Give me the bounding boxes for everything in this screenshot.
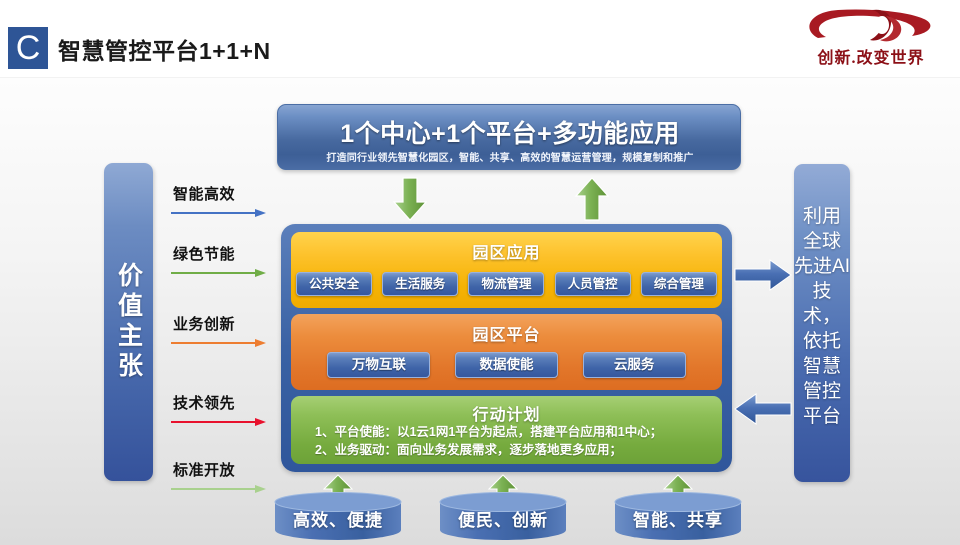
value-point-business-innovation: 业务创新 xyxy=(171,313,277,355)
layer-park-platform: 园区平台 万物互联 数据使能 云服务 xyxy=(291,314,722,390)
layer-title: 园区平台 xyxy=(291,321,722,345)
chip-cloud-service[interactable]: 云服务 xyxy=(583,352,686,378)
action-plan-line: 1、平台使能：以1云1网1平台为起点，搭建平台应用和1中心； xyxy=(315,423,715,441)
value-point-label: 绿色节能 xyxy=(173,243,235,264)
value-point-label: 业务创新 xyxy=(173,313,235,334)
chip-data-enablement[interactable]: 数据使能 xyxy=(455,352,558,378)
outcome-label: 智能、共享 xyxy=(613,506,743,531)
value-point-label: 智能高效 xyxy=(173,183,235,204)
arrow-down-to-application xyxy=(392,176,428,222)
arrow-up-from-application xyxy=(574,176,610,222)
application-chip-list: 公共安全 生活服务 物流管理 人员管控 综合管理 xyxy=(291,272,722,296)
value-point-open-standard: 标准开放 xyxy=(171,459,277,501)
arrow-right-icon xyxy=(171,208,267,218)
action-plan-lines: 1、平台使能：以1云1网1平台为起点，搭建平台应用和1中心； 2、业务驱动：面向… xyxy=(315,423,715,459)
arrow-left-from-ai-panel xyxy=(734,392,792,426)
chip-logistics-management[interactable]: 物流管理 xyxy=(468,272,544,296)
layer-park-application: 园区应用 公共安全 生活服务 物流管理 人员管控 综合管理 xyxy=(291,232,722,308)
chip-integrated-management[interactable]: 综合管理 xyxy=(641,272,717,296)
slide-root: C 智慧管控平台1+1+N 创新.改变世界 1个中心+1个平台+多功能应用 打造… xyxy=(0,0,960,545)
value-point-green-energy: 绿色节能 xyxy=(171,243,277,285)
chip-iot-connectivity[interactable]: 万物互联 xyxy=(327,352,430,378)
value-point-label: 技术领先 xyxy=(173,392,235,413)
outcome-cylinder-convenient-innovative: 便民、创新 xyxy=(438,492,568,540)
outcome-label: 高效、便捷 xyxy=(273,506,403,531)
value-proposition-bar: 价值主张 xyxy=(104,163,153,481)
page-header: C 智慧管控平台1+1+N 创新.改变世界 xyxy=(0,0,960,78)
arrow-right-to-ai-panel xyxy=(734,258,792,292)
value-point-tech-leading: 技术领先 xyxy=(171,392,277,434)
arrow-right-icon xyxy=(171,338,267,348)
platform-chip-list: 万物互联 数据使能 云服务 xyxy=(291,352,722,378)
value-point-smart-efficient: 智能高效 xyxy=(171,183,277,225)
ai-technology-panel: 利用全球先进AI技术，依托智慧管控平台 xyxy=(794,164,850,482)
outcome-cylinder-smart-shared: 智能、共享 xyxy=(613,492,743,540)
platform-architecture-frame: 园区应用 公共安全 生活服务 物流管理 人员管控 综合管理 园区平台 万物互联 … xyxy=(281,224,732,472)
ai-technology-text: 利用全球先进AI技术，依托智慧管控平台 xyxy=(794,204,850,429)
company-logo: 创新.改变世界 xyxy=(786,4,946,70)
chapter-badge: C xyxy=(8,27,48,69)
layer-action-plan: 行动计划 1、平台使能：以1云1网1平台为起点，搭建平台应用和1中心； 2、业务… xyxy=(291,396,722,464)
value-proposition-label: 价值主张 xyxy=(104,163,153,481)
arrow-right-icon xyxy=(171,268,267,278)
layer-title: 行动计划 xyxy=(291,401,722,425)
action-plan-line: 2、业务驱动：面向业务发展需求，逐步落地更多应用； xyxy=(315,441,715,459)
chip-public-security[interactable]: 公共安全 xyxy=(296,272,372,296)
headline-banner: 1个中心+1个平台+多功能应用 打造同行业领先智慧化园区，智能、共享、高效的智慧… xyxy=(277,104,741,170)
banner-title: 1个中心+1个平台+多功能应用 xyxy=(278,114,742,150)
page-title: 智慧管控平台1+1+N xyxy=(58,32,271,66)
logo-slogan: 创新.改变世界 xyxy=(796,44,946,68)
outcome-label: 便民、创新 xyxy=(438,506,568,531)
layer-title: 园区应用 xyxy=(291,239,722,263)
arrow-right-icon xyxy=(171,417,267,427)
value-point-label: 标准开放 xyxy=(173,459,235,480)
outcome-cylinder-efficient-convenient: 高效、便捷 xyxy=(273,492,403,540)
banner-subtitle: 打造同行业领先智慧化园区，智能、共享、高效的智慧运营管理，规模复制和推广 xyxy=(278,149,742,164)
arrow-right-icon xyxy=(171,484,267,494)
chip-personnel-control[interactable]: 人员管控 xyxy=(555,272,631,296)
chip-life-service[interactable]: 生活服务 xyxy=(382,272,458,296)
